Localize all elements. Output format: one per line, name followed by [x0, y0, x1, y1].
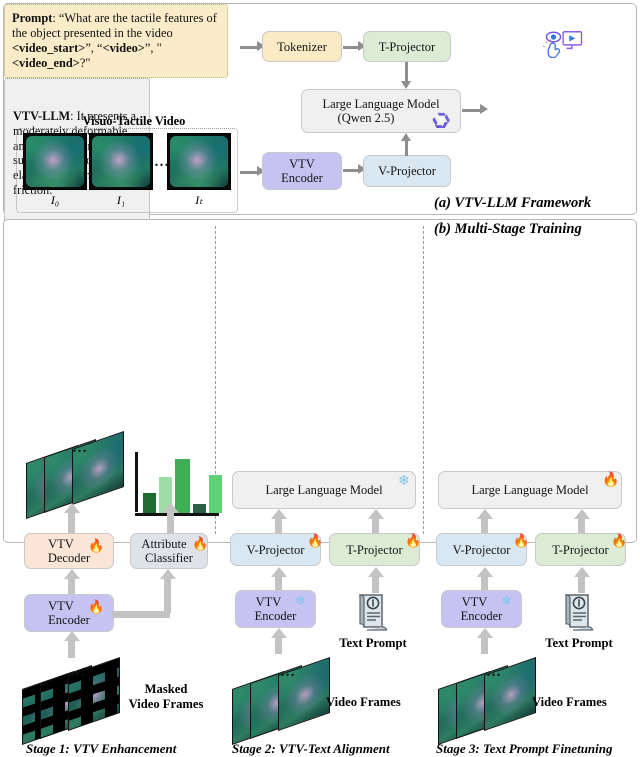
node-stage1-encoder-line2: Encoder	[48, 613, 90, 627]
arrow-encoder-to-classifier-v	[164, 577, 171, 613]
document-icon-stage3	[562, 590, 596, 632]
qwen-logo-icon	[432, 110, 452, 130]
arrow-classifier-to-chart	[167, 511, 174, 533]
visuo-tactile-video-title: Visuo-Tactile Video	[59, 114, 209, 129]
token-video-start: <video_start>	[12, 41, 85, 55]
fire-icon-attribute-classifier: 🔥	[192, 537, 208, 550]
node-stage2-llm-label: Large Language Model	[265, 483, 382, 497]
arrowhead-classifier-to-chart	[163, 503, 179, 513]
arrow-decoder-to-frames	[68, 511, 75, 533]
node-tokenizer[interactable]: Tokenizer	[262, 31, 342, 62]
arrowhead-stage3-frames-to-encoder	[477, 628, 493, 638]
frame-label-0: I₀	[23, 193, 87, 208]
node-stage2-encoder-line1: VTV	[256, 595, 282, 609]
node-stage3-llm-label: Large Language Model	[471, 483, 588, 497]
arrowhead-stage3-tproj-to-llm	[574, 509, 590, 519]
arrowhead-stage2-frames-to-encoder	[271, 628, 287, 638]
arrowhead-encoder-to-classifier	[160, 569, 176, 579]
stage1-masked-ellipsis: …	[70, 664, 86, 681]
frame-label-t: Iₜ	[167, 193, 231, 208]
masked-video-frames-label: Masked Video Frames	[116, 682, 216, 712]
caption-a: (a) VTV-LLM Framework	[434, 195, 591, 212]
node-stage3-encoder-line1: VTV	[462, 595, 488, 609]
fire-icon-stage1-encoder: 🔥	[88, 600, 104, 613]
token-video-end: <video_end>	[12, 56, 80, 70]
node-t-projector-label: T-Projector	[379, 40, 435, 54]
arrowhead-stage3-vproj-to-llm	[477, 509, 493, 519]
snowflake-icon-stage2-encoder: ❄	[295, 594, 306, 607]
arrowhead-stage2-encoder-to-vproj	[271, 567, 287, 577]
node-stage1-encoder-line1: VTV	[48, 599, 74, 613]
node-v-projector-label: V-Projector	[378, 164, 436, 178]
prompt-text-3: ”, "	[145, 41, 162, 55]
stage3-text-prompt-label: Text Prompt	[532, 636, 626, 651]
visuo-tactile-icon	[543, 30, 585, 58]
arrow-masked-frames-to-encoder	[68, 639, 75, 658]
frame-label-1: I₁	[89, 193, 153, 208]
node-stage2-t-projector-label: T-Projector	[346, 543, 402, 557]
stage1-caption: Stage 1: VTV Enhancement	[26, 741, 176, 757]
arrowhead-stage2-prompt-to-tproj	[368, 567, 384, 577]
stage2-text-prompt-label: Text Prompt	[326, 636, 420, 651]
node-vtv-encoder-line2: Encoder	[281, 171, 323, 185]
node-vtv-decoder-line1: VTV	[48, 537, 74, 551]
fire-icon-stage3-llm: 🔥	[602, 474, 619, 488]
arrowhead-encoder-to-decoder	[64, 569, 80, 579]
snowflake-icon-stage2-llm: ❄	[398, 475, 410, 489]
fire-icon-stage2-tprojector: 🔥	[405, 534, 421, 547]
node-vtv-encoder[interactable]: VTV Encoder	[262, 152, 342, 190]
arrowhead-vprojector-to-llm	[401, 133, 411, 141]
snowflake-icon-stage3-encoder: ❄	[501, 594, 512, 607]
masked-label-line1: Masked	[145, 682, 188, 696]
stage-divider-2	[423, 226, 424, 534]
arrowhead-tprojector-to-llm	[401, 81, 411, 89]
stage3-caption: Stage 3: Text Prompt Finetuning	[436, 741, 613, 757]
video-frame-t	[167, 133, 231, 190]
node-tokenizer-label: Tokenizer	[277, 40, 327, 54]
arrowhead-stage3-encoder-to-vproj	[477, 567, 493, 577]
framework-panel: Prompt: “What are the tactile features o…	[3, 3, 637, 215]
fire-icon-stage2-vprojector: 🔥	[307, 534, 323, 547]
arrow-encoder-to-classifier-h	[112, 611, 170, 618]
chart-bar	[193, 504, 206, 513]
stage3-video-frames-label: Video Frames	[532, 695, 607, 710]
arrow-vprojector-to-llm	[405, 141, 408, 156]
node-attribute-classifier-line2: Classifier	[145, 551, 193, 565]
node-stage3-t-projector-label: T-Projector	[552, 543, 608, 557]
caption-b: (b) Multi-Stage Training	[434, 221, 582, 238]
node-t-projector[interactable]: T-Projector	[363, 31, 451, 62]
arrow-llm-to-output	[462, 109, 482, 112]
arrow-stage2-frames-to-encoder	[275, 636, 282, 654]
document-icon-stage2	[356, 590, 390, 632]
node-stage3-encoder-line2: Encoder	[461, 609, 503, 623]
video-frame-1	[89, 133, 153, 190]
prompt-text-2: ”, “	[85, 41, 102, 55]
masked-label-line2: Video Frames	[129, 697, 204, 711]
arrowhead-stage2-tproj-to-llm	[368, 509, 384, 519]
multistage-training-panel: (b) Multi-Stage Training … VTV Decoder 🔥…	[3, 219, 637, 543]
node-stage2-v-projector-label: V-Projector	[247, 543, 305, 557]
arrowhead-llm-to-output	[480, 104, 488, 114]
chart-bar	[209, 475, 222, 513]
chart-x-axis	[135, 513, 219, 516]
arrowhead-masked-frames-to-encoder	[64, 631, 80, 641]
stage3-frames-ellipsis: …	[486, 664, 502, 681]
video-frames-ellipsis: …	[154, 154, 170, 171]
fire-icon-stage3-tprojector: 🔥	[611, 534, 627, 547]
token-video: <video>	[103, 41, 145, 55]
stage2-video-frames-label: Video Frames	[326, 695, 401, 710]
node-stage3-llm[interactable]: Large Language Model	[438, 471, 622, 509]
node-attribute-classifier-line1: Attribute	[141, 537, 186, 551]
node-vtv-decoder-line2: Decoder	[48, 551, 90, 565]
node-stage3-v-projector-label: V-Projector	[453, 543, 511, 557]
arrow-stage3-frames-to-encoder	[481, 636, 488, 654]
node-llm-label-line2: (Qwen 2.5)	[338, 111, 395, 125]
arrowhead-stage3-prompt-to-tproj	[574, 567, 590, 577]
node-stage2-encoder-line2: Encoder	[255, 609, 297, 623]
video-frame-0	[23, 133, 87, 190]
stage1-output-ellipsis: …	[72, 440, 88, 457]
arrowhead-stage2-vproj-to-llm	[271, 509, 287, 519]
chart-y-axis	[135, 452, 138, 512]
prompt-label: Prompt	[12, 11, 52, 25]
chart-bar	[143, 493, 156, 513]
node-stage2-llm[interactable]: Large Language Model	[232, 471, 416, 509]
fire-icon-stage3-vprojector: 🔥	[513, 534, 529, 547]
arrowhead-decoder-to-frames	[64, 503, 80, 513]
stage2-caption: Stage 2: VTV-Text Alignment	[232, 741, 390, 757]
arrow-tprojector-to-llm	[405, 62, 408, 83]
node-vtv-encoder-line1: VTV	[289, 157, 315, 171]
stage2-frames-ellipsis: …	[280, 664, 296, 681]
node-llm-label-line1: Large Language Model	[322, 97, 439, 111]
prompt-box: Prompt: “What are the tactile features o…	[4, 4, 228, 78]
prompt-text-4: ?"	[80, 56, 91, 70]
node-v-projector[interactable]: V-Projector	[363, 155, 451, 187]
